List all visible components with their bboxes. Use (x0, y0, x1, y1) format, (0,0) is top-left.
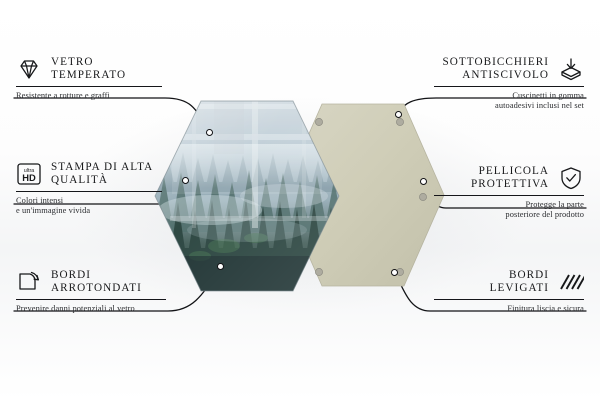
connector-dot-bordi-levigati (391, 269, 398, 276)
svg-text:HD: HD (22, 172, 36, 183)
feature-subtitle: Resistente a rotture e graffi (16, 91, 166, 101)
connector-dot-pellicola (420, 178, 427, 185)
divider-rule (434, 299, 584, 300)
divider-rule (434, 86, 584, 87)
shield-check-icon (558, 166, 584, 190)
product-front-panel (152, 98, 342, 294)
connector-dot-sottobicchieri (395, 111, 402, 118)
feature-bordi-arrotondati: BORDI ARROTONDATI Prevenire danni potenz… (16, 269, 168, 314)
feature-bordi-levigati: BORDI LEVIGATI Finitura liscia e sicura (434, 269, 584, 314)
feature-subtitle: Protegge la parte posteriore del prodott… (434, 200, 584, 220)
connector-dot-stampa (182, 177, 189, 184)
feature-title: PELLICOLA PROTETTIVA (471, 165, 549, 190)
diagonal-stripes-icon (558, 271, 584, 293)
feature-stampa-alta-qualita: ultra HD STAMPA DI ALTA QUALITÀ Colori i… (16, 161, 166, 217)
infographic-canvas: VETRO TEMPERATO Resistente a rotture e g… (0, 0, 600, 400)
feature-subtitle: Prevenire danni potenziali al vetro (16, 304, 168, 314)
divider-rule (16, 299, 166, 300)
rounded-corner-icon (16, 270, 42, 294)
connector-dot-vetro-temperato (206, 129, 213, 136)
divider-rule (16, 86, 162, 87)
feature-subtitle: Cuscinetti in gomma autoadesivi inclusi … (434, 91, 584, 111)
divider-rule (434, 195, 584, 196)
divider-rule (16, 191, 162, 192)
feature-pellicola-protettiva: PELLICOLA PROTETTIVA Protegge la parte p… (434, 165, 584, 221)
diamond-icon (16, 58, 42, 80)
feature-title: VETRO TEMPERATO (51, 56, 126, 81)
arrow-press-pad-icon (558, 57, 584, 81)
feature-title: STAMPA DI ALTA QUALITÀ (51, 161, 153, 186)
feature-vetro-temperato: VETRO TEMPERATO Resistente a rotture e g… (16, 56, 166, 101)
feature-title: SOTTOBICCHIERI ANTISCIVOLO (443, 56, 549, 81)
rubber-pad (396, 118, 403, 125)
connector-dot-bordi-arrotondati (217, 263, 224, 270)
feature-subtitle: Colori intensi e un'immagine vivida (16, 196, 166, 216)
rubber-pad (419, 193, 426, 200)
feature-title: BORDI LEVIGATI (490, 269, 549, 294)
feature-title: BORDI ARROTONDATI (51, 269, 142, 294)
feature-subtitle: Finitura liscia e sicura (434, 304, 584, 314)
ultra-hd-badge-icon: ultra HD (16, 162, 42, 186)
feature-sottobicchieri-antiscivolo: SOTTOBICCHIERI ANTISCIVOLO Cuscinetti in… (434, 56, 584, 112)
